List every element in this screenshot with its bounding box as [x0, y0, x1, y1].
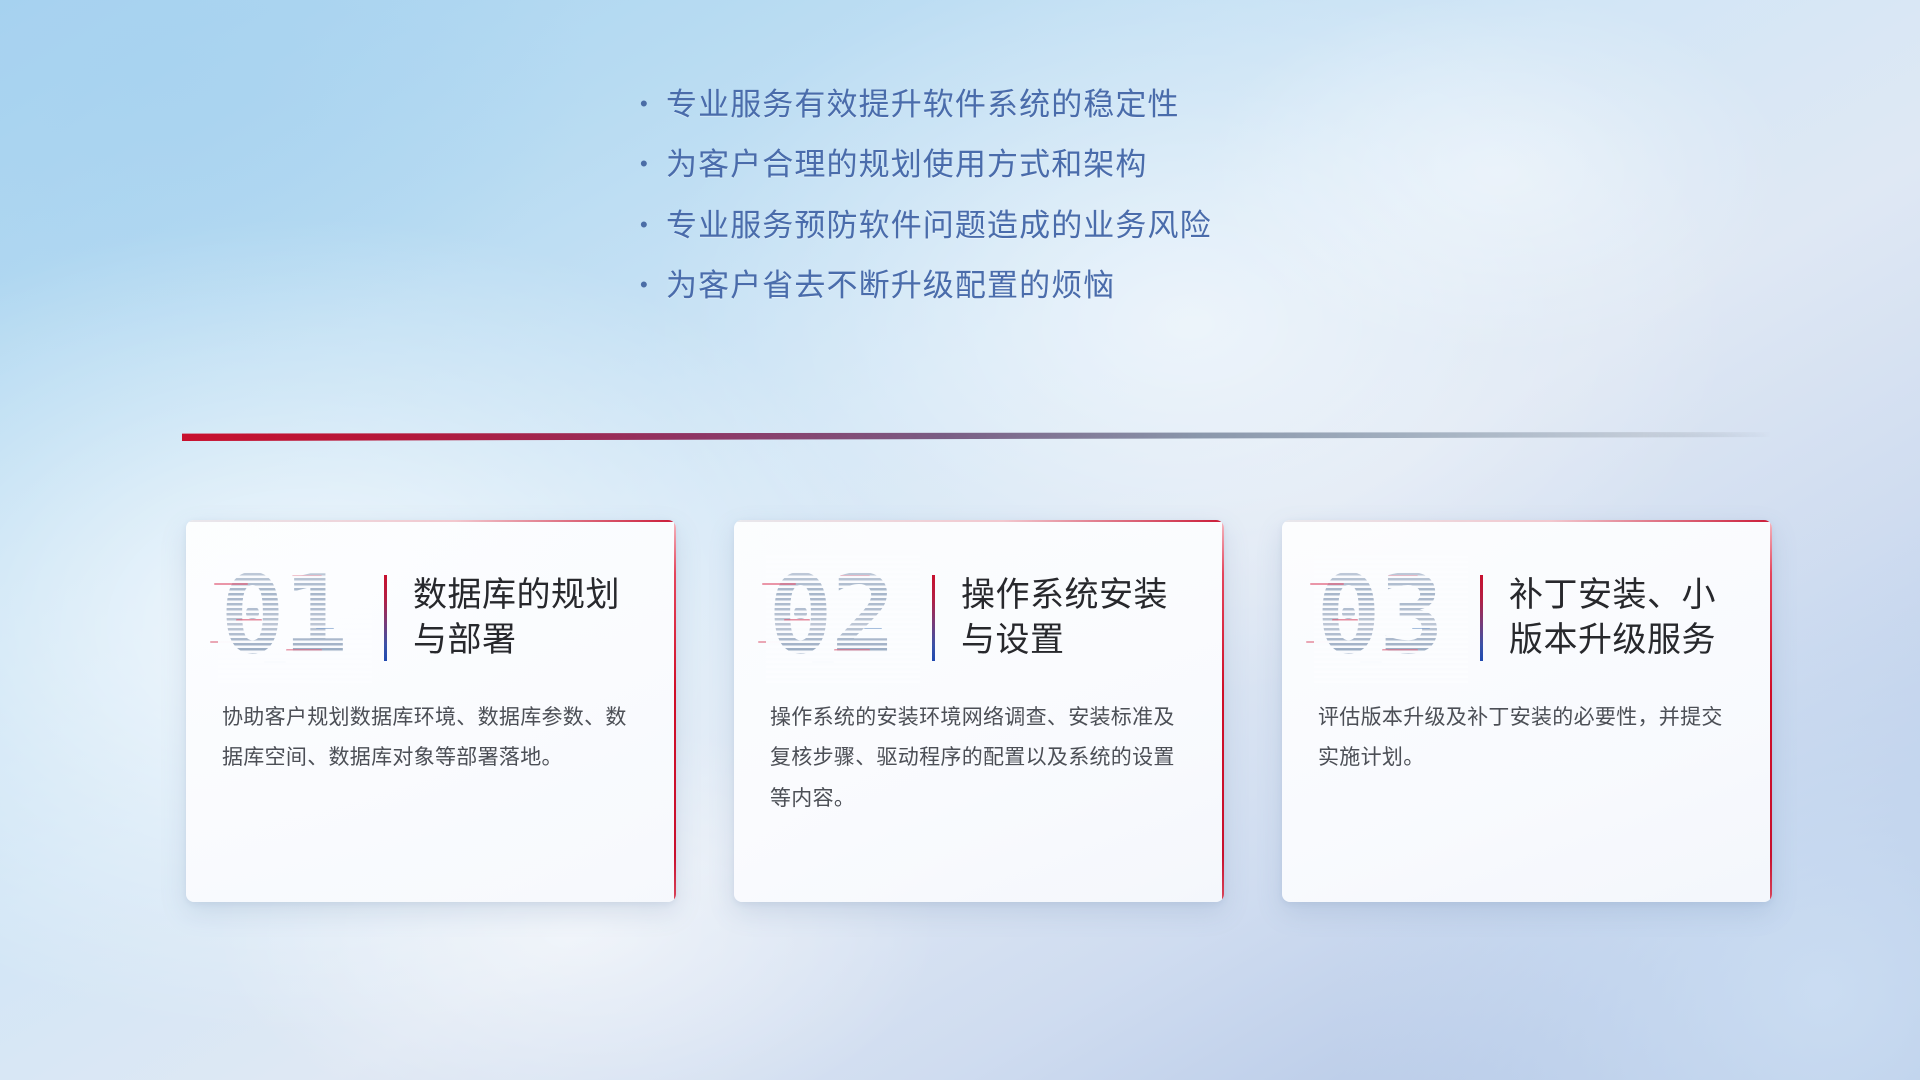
- service-card[interactable]: 01 数据库的规划与部署 协助客户规划数据库环境、数据库参数、数据库空间、数据库…: [186, 520, 676, 902]
- bullet-dot-icon: •: [640, 214, 666, 236]
- glitch-tick-icon: [1310, 583, 1344, 585]
- glitch-tick-icon: [758, 641, 798, 643]
- card-title: 操作系统安装与设置: [961, 573, 1198, 663]
- card-number-glyph: 02: [768, 557, 918, 679]
- glitch-tick-icon: [286, 649, 322, 651]
- card-title: 数据库的规划与部署: [413, 573, 650, 663]
- service-card[interactable]: 02 操作系统安装与设置 操作系统的安装环境网络调查、安装标准及复核步骤、驱动程…: [734, 520, 1224, 902]
- glitch-tick-icon: [1412, 627, 1430, 629]
- list-item: • 为客户省去不断升级配置的烦恼: [640, 267, 1212, 305]
- slide-canvas: • 专业服务有效提升软件系统的稳定性 • 为客户合理的规划使用方式和架构 • 专…: [0, 0, 1920, 1080]
- card-title: 补丁安装、小版本升级服务: [1509, 573, 1746, 663]
- bullet-text: 为客户合理的规划使用方式和架构: [666, 146, 1148, 184]
- glitch-tick-icon: [236, 619, 262, 621]
- card-header: 01 数据库的规划与部署: [186, 520, 676, 680]
- glitch-tick-icon: [264, 661, 286, 663]
- list-item: • 专业服务预防软件问题造成的业务风险: [640, 207, 1212, 245]
- card-header: 02 操作系统安装与设置: [734, 520, 1224, 680]
- glitch-tick-icon: [292, 575, 322, 577]
- list-item: • 为客户合理的规划使用方式和架构: [640, 146, 1212, 184]
- glitch-tick-icon: [1306, 641, 1346, 643]
- glitch-tick-icon: [812, 661, 834, 663]
- bullet-dot-icon: •: [640, 93, 666, 115]
- card-number-glyph: 01: [220, 557, 370, 679]
- card-body-text: 操作系统的安装环境网络调查、安装标准及复核步骤、驱动程序的配置以及系统的设置等内…: [734, 680, 1224, 819]
- glitch-tick-icon: [834, 649, 870, 651]
- glitch-tick-icon: [840, 575, 870, 577]
- glitch-tick-icon: [214, 583, 248, 585]
- benefits-bullet-list: • 专业服务有效提升软件系统的稳定性 • 为客户合理的规划使用方式和架构 • 专…: [640, 86, 1212, 328]
- bullet-text: 专业服务预防软件问题造成的业务风险: [666, 207, 1212, 245]
- glitch-tick-icon: [210, 641, 250, 643]
- bullet-text: 为客户省去不断升级配置的烦恼: [666, 267, 1115, 305]
- card-number-glyph: 03: [1316, 557, 1466, 679]
- service-card-group: 01 数据库的规划与部署 协助客户规划数据库环境、数据库参数、数据库空间、数据库…: [0, 520, 1920, 940]
- card-title-rule: [1480, 575, 1483, 661]
- glitch-tick-icon: [1332, 619, 1358, 621]
- glitch-tick-icon: [1388, 575, 1418, 577]
- glitch-tick-icon: [864, 627, 882, 629]
- bullet-dot-icon: •: [640, 153, 666, 175]
- card-header: 03 补丁安装、小版本升级服务: [1282, 520, 1772, 680]
- bullet-dot-icon: •: [640, 274, 666, 296]
- glitch-tick-icon: [784, 619, 810, 621]
- bullet-text: 专业服务有效提升软件系统的稳定性: [666, 86, 1180, 124]
- card-title-rule: [384, 575, 387, 661]
- list-item: • 专业服务有效提升软件系统的稳定性: [640, 86, 1212, 124]
- glitch-tick-icon: [1382, 649, 1418, 651]
- card-body-text: 协助客户规划数据库环境、数据库参数、数据库空间、数据库对象等部署落地。: [186, 680, 676, 779]
- divider-shape: [182, 432, 1770, 441]
- card-title-rule: [932, 575, 935, 661]
- glitch-tick-icon: [316, 627, 334, 629]
- card-body-text: 评估版本升级及补丁安装的必要性，并提交实施计划。: [1282, 680, 1772, 779]
- section-divider: [182, 432, 1770, 441]
- glitch-tick-icon: [1360, 661, 1382, 663]
- service-card[interactable]: 03 补丁安装、小版本升级服务 评估版本升级及补丁安装的必要性，并提交实施计划。: [1282, 520, 1772, 902]
- glitch-tick-icon: [762, 583, 796, 585]
